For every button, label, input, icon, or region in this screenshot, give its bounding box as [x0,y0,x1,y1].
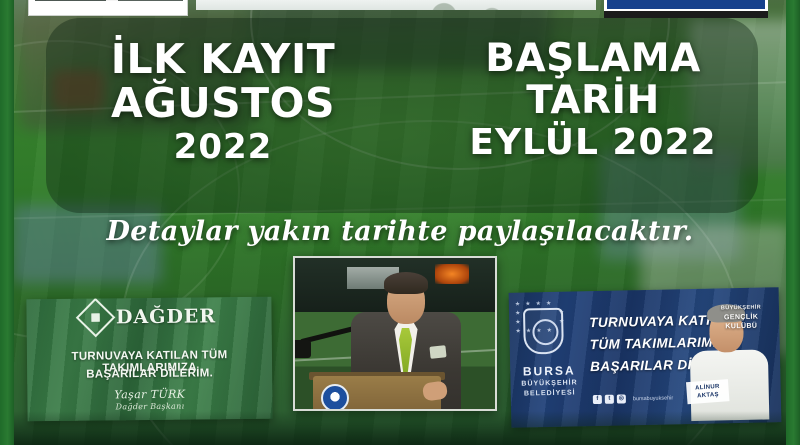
speaker-pocket-square [429,345,446,359]
alinur-aktas-photo: BÜYÜKŞEHİR GENÇLİK KULÜBÜ ALİNUR AKTAŞ [681,291,776,421]
headline-right-line2: TARİH [418,82,768,119]
dagder-logo-row: DAĞDER [26,302,271,333]
headline-first-registration: İLK KAYIT AĞUSTOS 2022 [58,40,388,163]
headline-left-line2: AĞUSTOS [58,84,388,123]
top-bleed-white-card [28,0,188,16]
instagram-icon: ◎ [617,394,626,403]
dagder-brand-text: DAĞDER [116,305,216,328]
bursa-social-row: f t ◎ bursabuyuksehir [593,393,674,404]
top-bleed-photo-strip [196,0,596,10]
speaker-podium-photo [293,256,497,411]
frame-bar-left [0,0,14,445]
tournament-announcement-poster: İLK KAYIT AĞUSTOS 2022 BAŞLAMA TARİH EYL… [0,0,800,445]
nametag-line2: AKTAŞ [687,390,729,401]
podium-emblem-icon [321,384,349,411]
speaker-hair [384,272,428,294]
bursa-city-text: BURSA [518,363,580,378]
headline-right-line3: EYLÜL 2022 [418,126,768,161]
facebook-icon: f [593,395,602,404]
bursa-belediyesi-banner: ★★★★★ ★★ ★★★★★ BURSA BÜYÜKŞEHİR BELEDİYE… [509,287,782,428]
photo-floodlight-glow [435,264,469,284]
dagder-signature-name: Yaşar TÜRK [27,387,272,403]
bursa-crest-icon [523,308,564,355]
club-line3: KULÜBÜ [713,321,769,331]
dagder-banner: DAĞDER TURNUVAYA KATILAN TÜM TAKIMLARIMI… [26,297,272,422]
bottom-vignette [0,411,800,445]
bursa-subtitle-2: BELEDİYESİ [515,389,585,397]
twitter-icon: t [605,395,614,404]
genclik-kulubu-label: BÜYÜKŞEHİR GENÇLİK KULÜBÜ [713,303,770,331]
top-bleed-card-text-blur [35,0,183,1]
alinur-aktas-nametag: ALİNUR AKTAŞ [686,379,729,404]
bursa-social-handle: bursabuyuksehir [633,395,673,402]
diamond-logo-icon [76,298,116,338]
headline-left-line1: İLK KAYIT [58,40,388,79]
dagder-message-line2: BAŞARILAR DİLERİM. [27,367,272,382]
details-subtitle: Detaylar yakın tarihte paylaşılacaktır. [0,216,800,247]
top-bleed-blue-banner [604,0,768,12]
frame-bar-right [786,0,800,445]
headline-start-date: BAŞLAMA TARİH EYLÜL 2022 [418,40,768,160]
club-line1: BÜYÜKŞEHİR [713,303,769,313]
headline-right-line1: BAŞLAMA [418,40,768,77]
bursa-subtitle-1: BÜYÜKŞEHİR [514,379,584,387]
headline-left-line3: 2022 [58,131,388,164]
microphone-base [293,340,311,358]
